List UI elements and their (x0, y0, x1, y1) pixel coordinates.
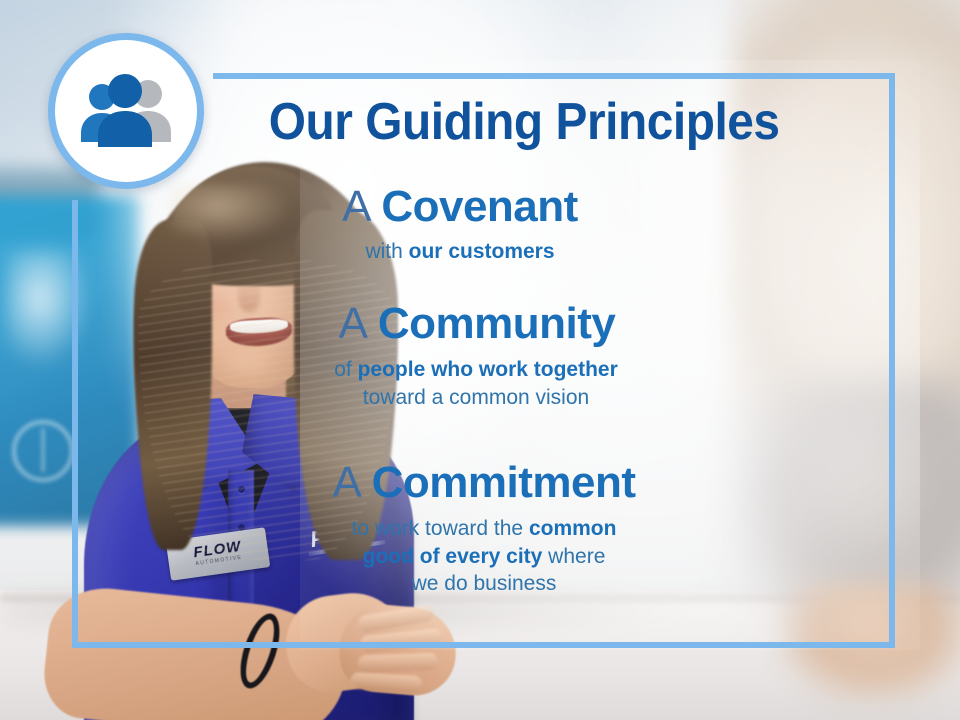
principle-heading: A Commitment (0, 461, 960, 506)
principle-keyword: Covenant (381, 182, 577, 231)
principle-article: A (332, 458, 371, 507)
page-title: Our Guiding Principles (38, 96, 921, 148)
subtext-emphasis: good of every city (363, 545, 543, 568)
subtext-line: toward a common vision (0, 384, 952, 412)
subtext-line: with our customers (0, 238, 920, 266)
principle-subtext: with our customers (0, 238, 920, 266)
subtext-plain: where (542, 545, 605, 568)
principle-community: A Community of people who work togethert… (0, 302, 960, 411)
principle-subtext: to work toward the commongood of every c… (0, 515, 960, 598)
guiding-principles-banner: FLOW AUTOMOTIVE FLOW (0, 0, 960, 720)
principle-article: A (339, 299, 378, 348)
subtext-emphasis: people who work together (358, 358, 618, 381)
subtext-plain: of (334, 358, 357, 381)
subtext-line: of people who work together (0, 356, 952, 384)
subtext-line: to work toward the common (0, 515, 960, 543)
principle-keyword: Commitment (372, 458, 636, 507)
principle-article: A (342, 182, 381, 231)
principle-covenant: A Covenant with our customers (0, 185, 920, 266)
subtext-emphasis: our customers (409, 240, 555, 263)
subtext-plain: we do business (412, 572, 557, 595)
principle-keyword: Community (378, 299, 616, 348)
banner-copy: Our Guiding Principles A Covenant with o… (0, 0, 960, 720)
principle-heading: A Covenant (0, 185, 920, 230)
subtext-line: good of every city where (0, 543, 960, 571)
principle-commitment: A Commitment to work toward the commongo… (0, 461, 960, 598)
principle-subtext: of people who work togethertoward a comm… (0, 356, 960, 411)
principle-heading: A Community (0, 302, 960, 347)
subtext-plain: toward a common vision (363, 386, 589, 409)
subtext-emphasis: common (529, 517, 617, 540)
subtext-plain: with (365, 240, 408, 263)
subtext-line: we do business (0, 570, 960, 598)
subtext-plain: to work toward the (352, 517, 529, 540)
